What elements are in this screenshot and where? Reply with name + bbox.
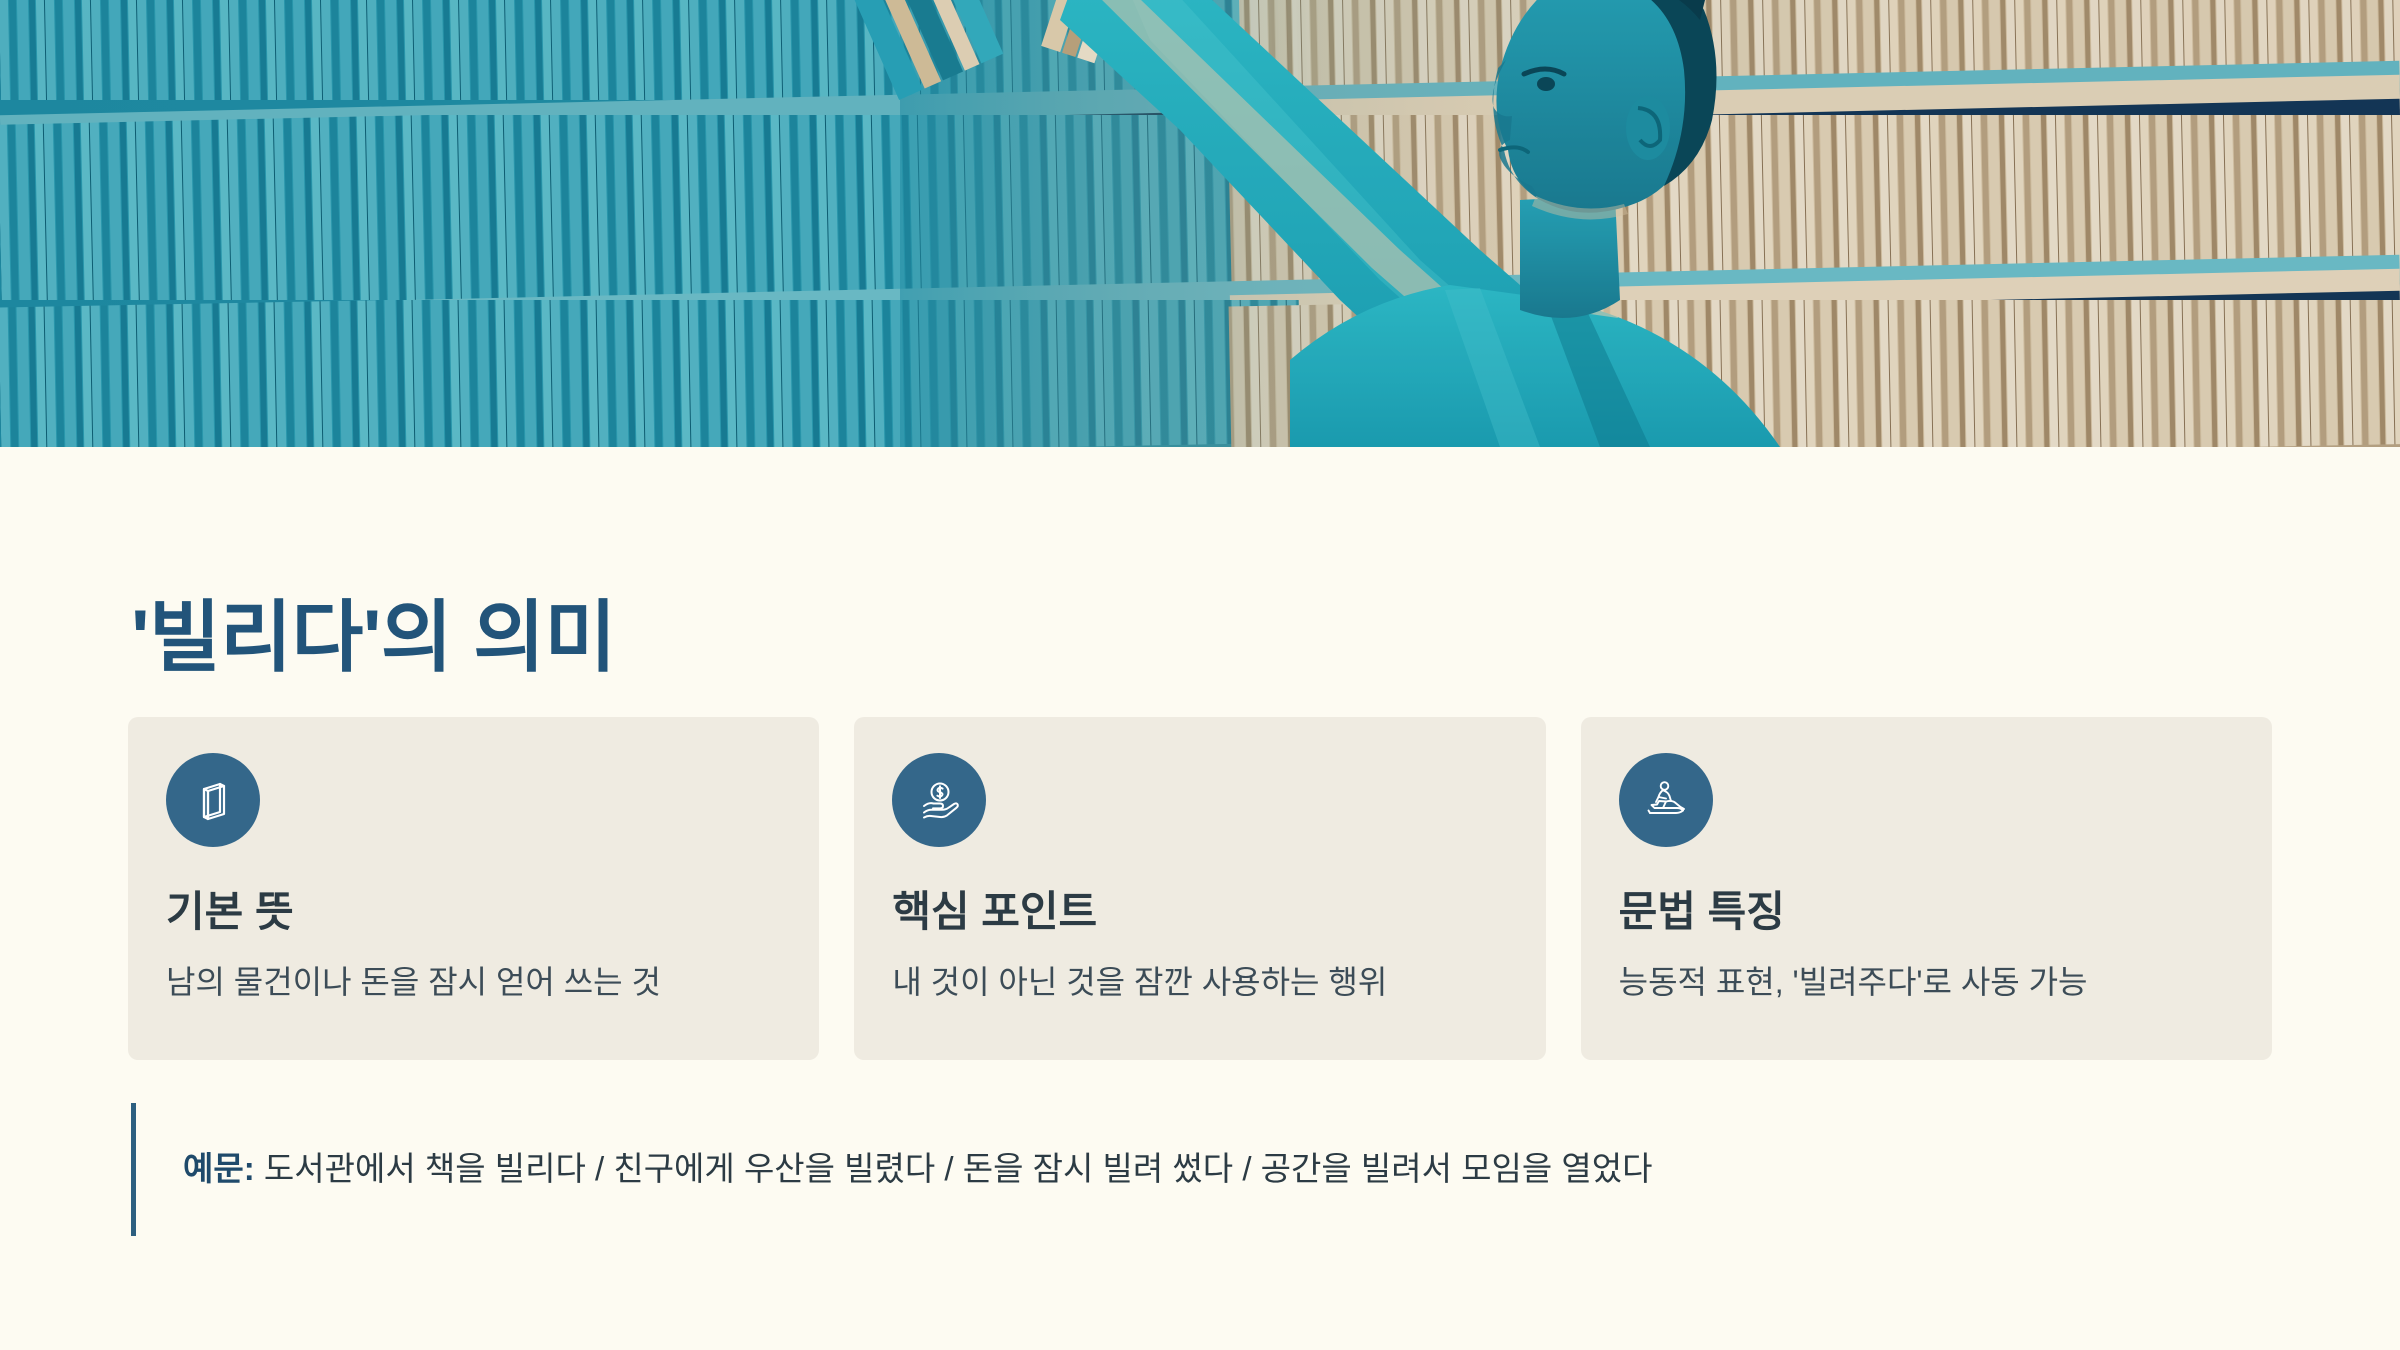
card-title: 문법 특징 [1619, 889, 2234, 935]
card-grid: 기본 뜻 남의 물건이나 돈을 잠시 얻어 쓰는 것 핵심 포인트 내 것이 아… [128, 717, 2272, 1060]
content-area: '빌리다'의 의미 기본 뜻 남의 물건이나 돈을 잠시 얻어 쓰는 것 [0, 447, 2400, 1350]
card-description: 능동적 표현, '빌려주다'로 사동 가능 [1619, 961, 2234, 1004]
card-title: 기본 뜻 [166, 889, 781, 935]
hand-holding-coin-icon [892, 753, 986, 847]
example-sentences-block: 예문: 도서관에서 책을 빌리다 / 친구에게 우산을 빌렸다 / 돈을 잠시 … [131, 1103, 1653, 1236]
hero-illustration [0, 0, 2400, 447]
person-riding-vehicle-icon [1619, 753, 1713, 847]
page-title: '빌리다'의 의미 [131, 598, 616, 676]
example-body: 도서관에서 책을 빌리다 / 친구에게 우산을 빌렸다 / 돈을 잠시 빌려 썼… [255, 1150, 1653, 1187]
card-description: 남의 물건이나 돈을 잠시 얻어 쓰는 것 [166, 961, 781, 1004]
concept-card-grammar-feature: 문법 특징 능동적 표현, '빌려주다'로 사동 가능 [1581, 717, 2272, 1060]
concept-card-basic-meaning: 기본 뜻 남의 물건이나 돈을 잠시 얻어 쓰는 것 [128, 717, 819, 1060]
card-description: 내 것이 아닌 것을 잠깐 사용하는 행위 [892, 961, 1507, 1004]
concept-card-key-point: 핵심 포인트 내 것이 아닌 것을 잠깐 사용하는 행위 [854, 717, 1545, 1060]
card-title: 핵심 포인트 [892, 889, 1507, 935]
example-sentences-text: 예문: 도서관에서 책을 빌리다 / 친구에게 우산을 빌렸다 / 돈을 잠시 … [183, 1146, 1653, 1192]
book-icon [166, 753, 260, 847]
hero-image [0, 0, 2400, 447]
example-label: 예문: [183, 1150, 255, 1187]
